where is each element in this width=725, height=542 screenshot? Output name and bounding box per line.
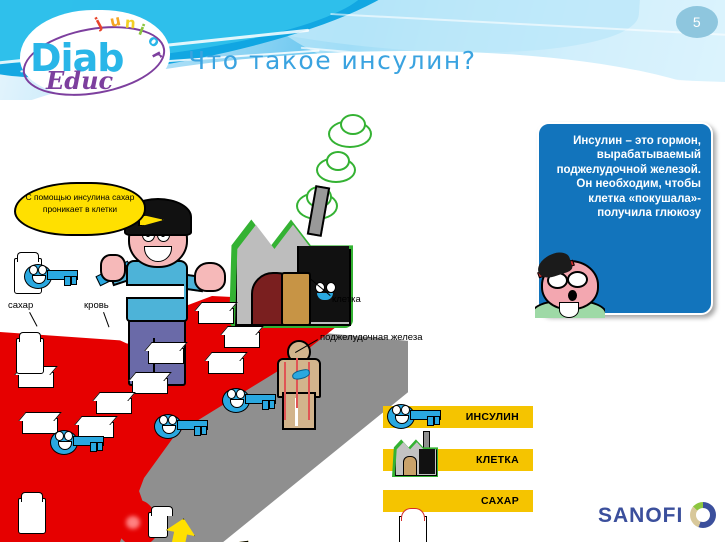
blue-key-icon <box>387 402 439 428</box>
key-eye <box>159 415 168 425</box>
key-eye <box>64 431 73 441</box>
sugar-cube <box>132 378 168 394</box>
label-pancreas: поджелудочная железа <box>320 332 423 343</box>
cell-factory-illustration <box>235 216 347 322</box>
sugar-bag <box>148 512 168 538</box>
house-shadow-side <box>419 449 435 474</box>
key-tooth <box>194 426 201 436</box>
key-tooth <box>427 416 434 426</box>
sugar-cube <box>148 348 184 364</box>
sanofi-mark-inner <box>696 508 710 522</box>
blood-vessel <box>296 358 298 408</box>
label-cell: клетка <box>332 294 361 305</box>
boy-smile <box>144 246 172 262</box>
boy-right-hand <box>194 262 226 292</box>
key-tooth <box>71 276 77 285</box>
sanofi-wordmark: SANOFI <box>598 504 683 528</box>
sugar-bag <box>18 498 46 534</box>
boy-left-hand <box>100 254 126 282</box>
factory-house-icon <box>395 440 435 474</box>
key-tooth <box>434 416 440 425</box>
house-chimney <box>423 431 430 449</box>
key-tooth <box>262 400 269 410</box>
doctor-collar <box>559 302 579 318</box>
key-eye <box>401 405 410 415</box>
logo-text-educ: Educ <box>46 66 113 95</box>
leader-line-sugar <box>29 312 38 327</box>
sugar-bag-icon <box>397 508 429 542</box>
doctor-glasses-right <box>567 271 588 288</box>
legend-label-sugar: САХАР <box>481 495 519 507</box>
smoke-cloud-icon <box>326 151 350 171</box>
key-eye <box>29 265 38 275</box>
key-tooth <box>64 276 71 286</box>
key-tooth <box>201 426 207 435</box>
insulin-key-character <box>154 412 206 438</box>
page-title: Что такое инсулин? <box>188 46 477 75</box>
key-tooth <box>90 442 97 452</box>
legend: ИНСУЛИН КЛЕТКА САХАР <box>383 400 533 512</box>
house-door <box>403 456 417 476</box>
blood-drop-highlight <box>126 516 140 529</box>
sugar-cube <box>224 332 260 348</box>
insulin-key-character <box>24 262 76 288</box>
body-legs <box>282 392 316 430</box>
doctor-character <box>535 252 605 318</box>
slide: 5 Diab Educ junior Что такое инсулин? <box>0 0 725 542</box>
bag-top-tie <box>401 508 425 521</box>
diabeduc-junior-logo: Diab Educ junior <box>14 6 174 102</box>
sanofi-logo: SANOFI <box>598 500 718 534</box>
key-tooth <box>97 442 103 451</box>
speech-bubble-text: С помощью инсулина сахар проникает в кле… <box>20 192 140 216</box>
speech-bubble: С помощью инсулина сахар проникает в кле… <box>14 182 146 236</box>
boy-shirt-stripe <box>126 284 184 299</box>
label-sugar: сахар <box>8 300 33 311</box>
key-eye <box>392 405 401 415</box>
logo-junior-letter: i <box>136 21 148 40</box>
sugar-bag <box>16 338 44 374</box>
pancreas-body-diagram <box>274 340 320 426</box>
page-number-badge: 5 <box>676 6 718 38</box>
key-eye <box>236 389 245 399</box>
doctor-mouth <box>568 290 577 301</box>
insulin-key-character <box>50 428 102 454</box>
legend-label-insulin: ИНСУЛИН <box>466 411 519 423</box>
label-blood: кровь <box>84 300 109 311</box>
sugar-cube <box>198 308 234 324</box>
insulin-key-character <box>222 386 274 412</box>
smoke-cloud-icon <box>340 114 366 135</box>
blood-vessel <box>284 362 286 420</box>
key-eye <box>168 415 177 425</box>
key-eye <box>38 265 47 275</box>
factory-door <box>281 272 311 326</box>
sugar-cube <box>208 358 244 374</box>
logo-junior-letter: n <box>124 14 136 33</box>
logo-junior-arc: junior <box>96 12 172 64</box>
sugar-cube <box>18 372 54 388</box>
key-eye <box>227 389 236 399</box>
legend-label-cell: КЛЕТКА <box>476 454 519 466</box>
logo-junior-letter: u <box>108 11 122 31</box>
key-eye <box>55 431 64 441</box>
sugar-cube <box>96 398 132 414</box>
